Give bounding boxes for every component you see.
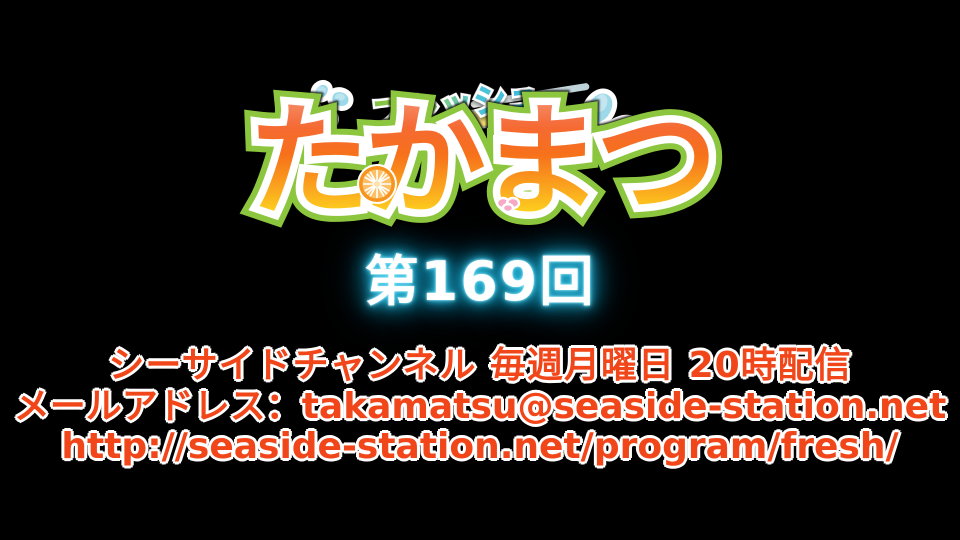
program-url-line: http://seaside-station.net/program/fresh… bbox=[0, 429, 960, 466]
show-logo: フレッシュ フレッシュ たかまつ たかまつ たかまつ たかまつ たかまつ bbox=[0, 30, 960, 230]
episode-number: 第169回 bbox=[0, 252, 960, 311]
video-title-card: フレッシュ フレッシュ たかまつ たかまつ たかまつ たかまつ たかまつ bbox=[0, 0, 960, 540]
program-schedule-line: シーサイドチャンネル 毎週月曜日 20時配信 bbox=[0, 348, 960, 385]
program-info-block: シーサイドチャンネル 毎週月曜日 20時配信 メールアドレス：takamatsu… bbox=[0, 348, 960, 466]
orange-slice-icon bbox=[355, 162, 399, 206]
pink-flower-icon bbox=[495, 194, 521, 214]
logo-title-gloss-layer: たかまつ bbox=[0, 92, 960, 232]
program-email-line: メールアドレス：takamatsu@seaside-station.net bbox=[0, 389, 960, 426]
